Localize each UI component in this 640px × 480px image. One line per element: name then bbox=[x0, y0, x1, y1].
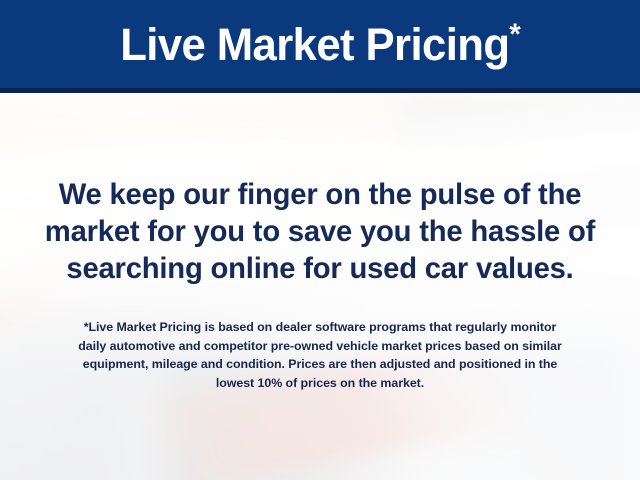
disclaimer-line-4: lowest 10% of prices on the market. bbox=[30, 374, 610, 393]
headline-line-1: We keep our finger on the pulse of the bbox=[21, 176, 619, 213]
disclaimer-line-2: daily automotive and competitor pre-owne… bbox=[30, 337, 610, 356]
header-banner: Live Market Pricing* bbox=[0, 0, 640, 92]
headline-line-2: market for you to save you the hassle of bbox=[21, 213, 619, 250]
page-title: Live Market Pricing* bbox=[120, 22, 521, 67]
live-market-pricing-card: Live Market Pricing* We keep our finger … bbox=[0, 0, 640, 480]
headline: We keep our finger on the pulse of the m… bbox=[0, 176, 640, 287]
header-banner-bottom-edge bbox=[0, 88, 640, 93]
disclaimer-line-1: *Live Market Pricing is based on dealer … bbox=[30, 318, 610, 337]
page-title-asterisk: * bbox=[509, 18, 520, 51]
headline-line-3: searching online for used car values. bbox=[21, 250, 619, 287]
disclaimer-line-3: equipment, mileage and condition. Prices… bbox=[30, 355, 610, 374]
page-title-text: Live Market Pricing bbox=[120, 19, 509, 70]
disclaimer-text: *Live Market Pricing is based on dealer … bbox=[0, 318, 640, 392]
